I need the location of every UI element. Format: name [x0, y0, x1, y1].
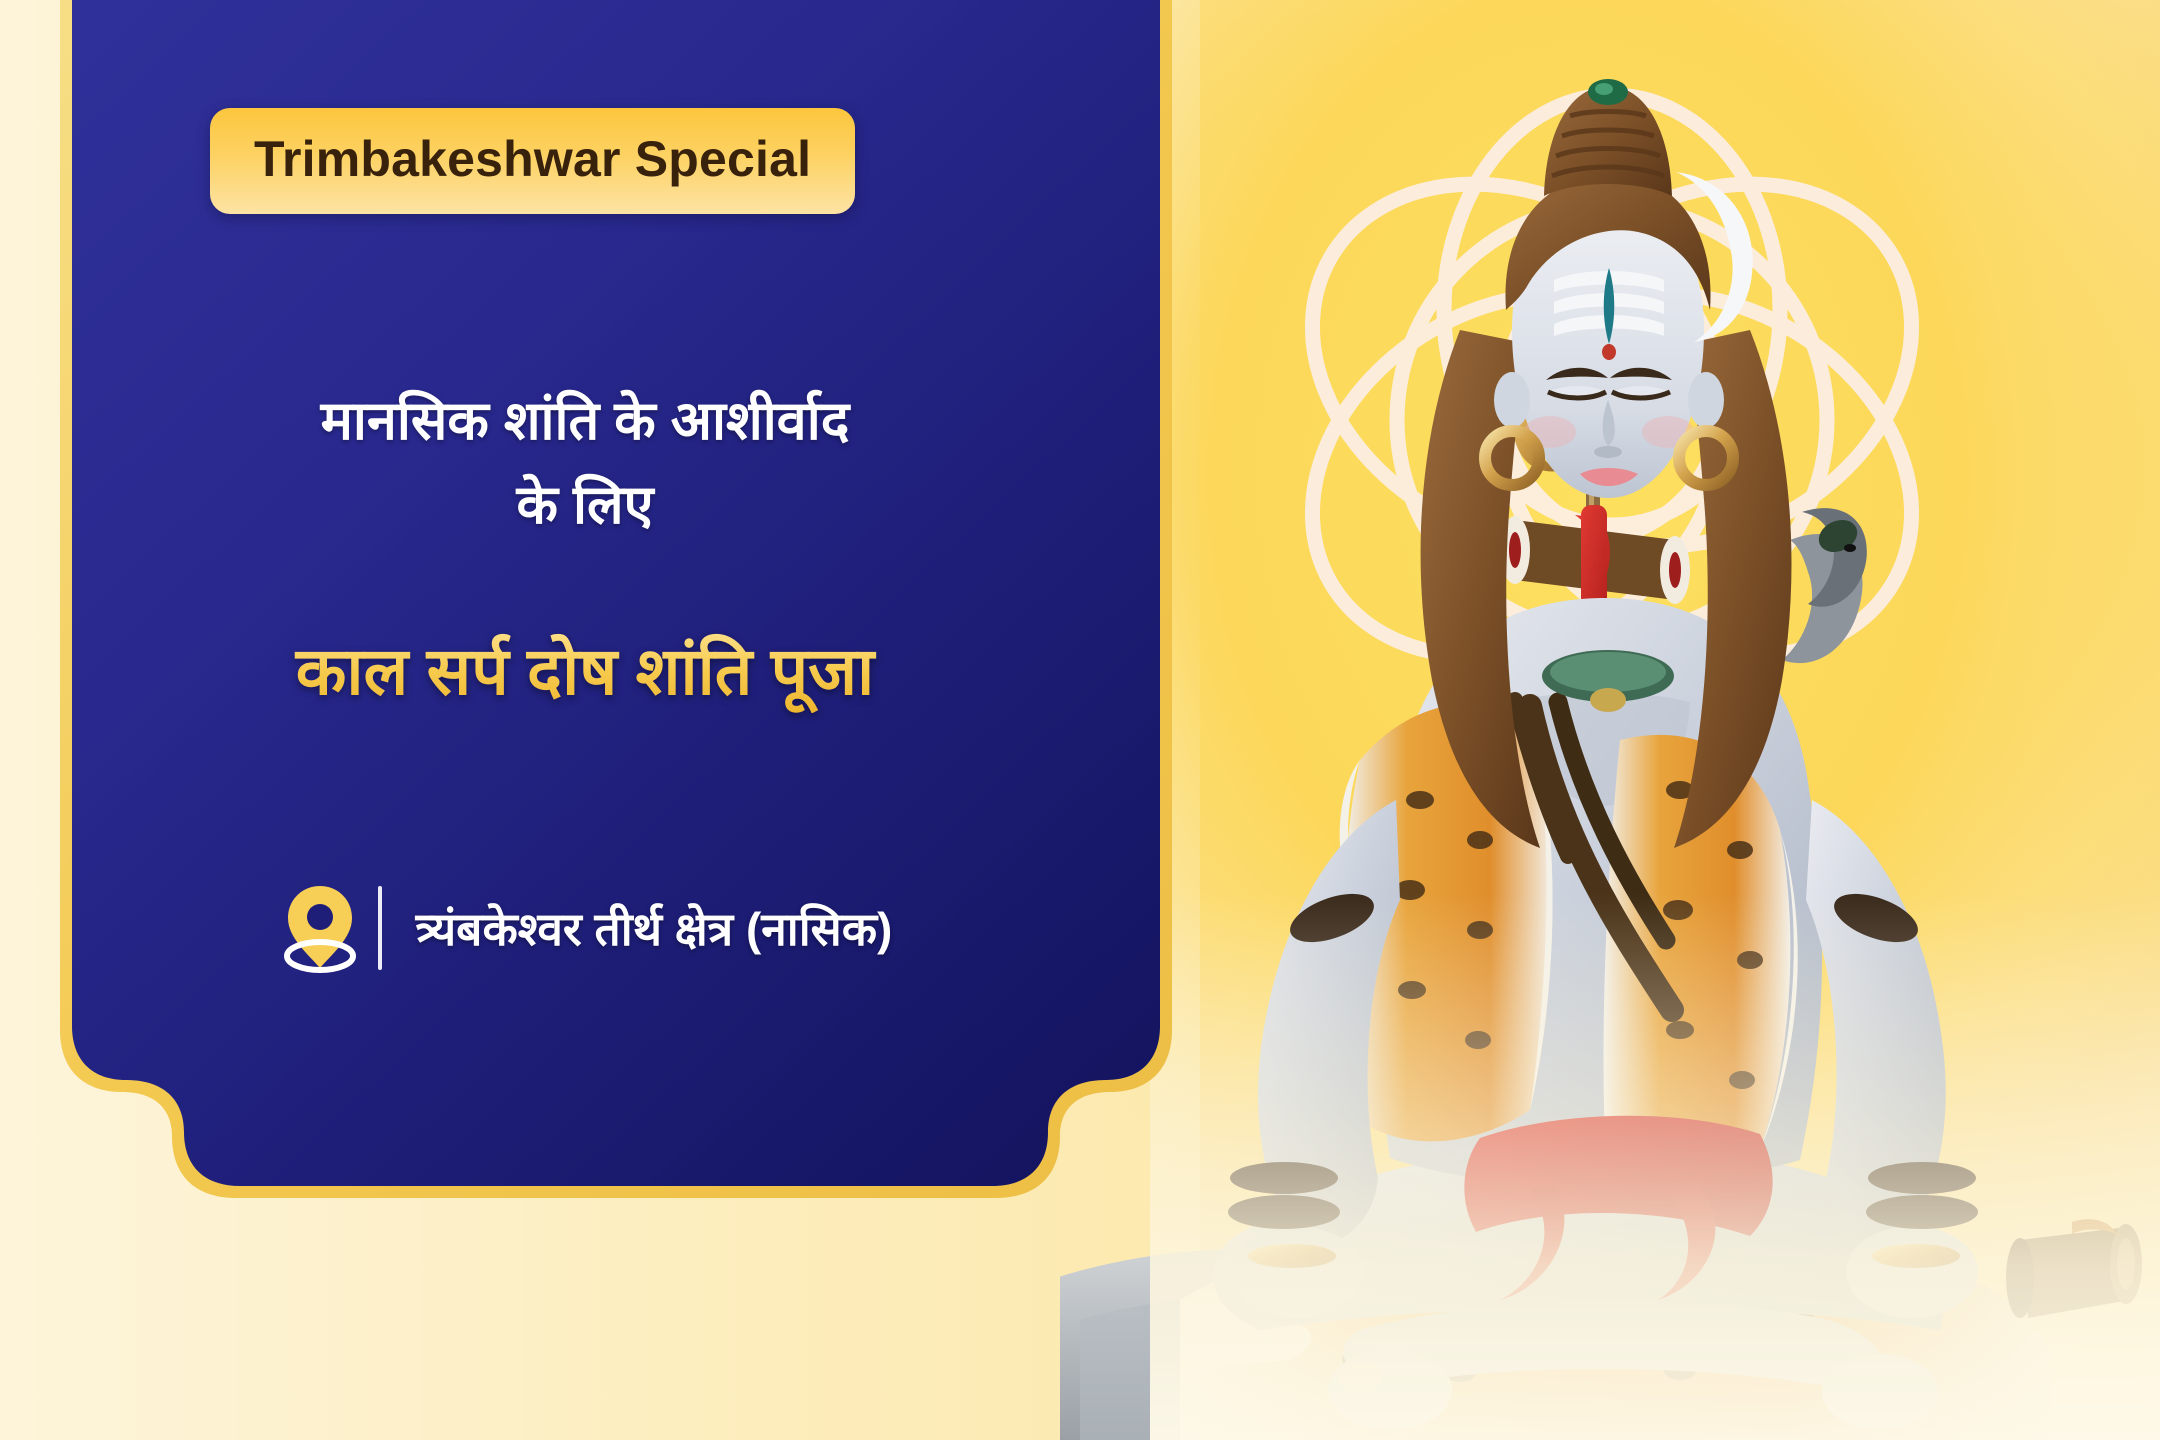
location-label: त्र्यंबकेश्वर तीर्थ क्षेत्र (नासिक): [416, 897, 893, 959]
location-row: त्र्यंबकेश्वर तीर्थ क्षेत्र (नासिक): [70, 880, 1100, 976]
page-title: काल सर्प दोष शांति पूजा: [70, 630, 1100, 713]
subtitle-line-2: के लिए: [70, 464, 1100, 548]
location-divider: [378, 886, 382, 970]
subtitle-line-1: मानसिक शांति के आशीर्वाद: [70, 380, 1100, 464]
subtitle-block: मानसिक शांति के आशीर्वाद के लिए: [70, 380, 1100, 547]
map-pin-icon: [278, 880, 362, 976]
banner-root: Trimbakeshwar Special मानसिक शांति के आश…: [0, 0, 2160, 1440]
background-bottom-fade: [1150, 0, 2160, 1440]
badge-label: Trimbakeshwar Special: [254, 134, 811, 184]
special-badge[interactable]: Trimbakeshwar Special: [210, 108, 855, 214]
info-card: Trimbakeshwar Special मानसिक शांति के आश…: [0, 0, 1220, 1240]
